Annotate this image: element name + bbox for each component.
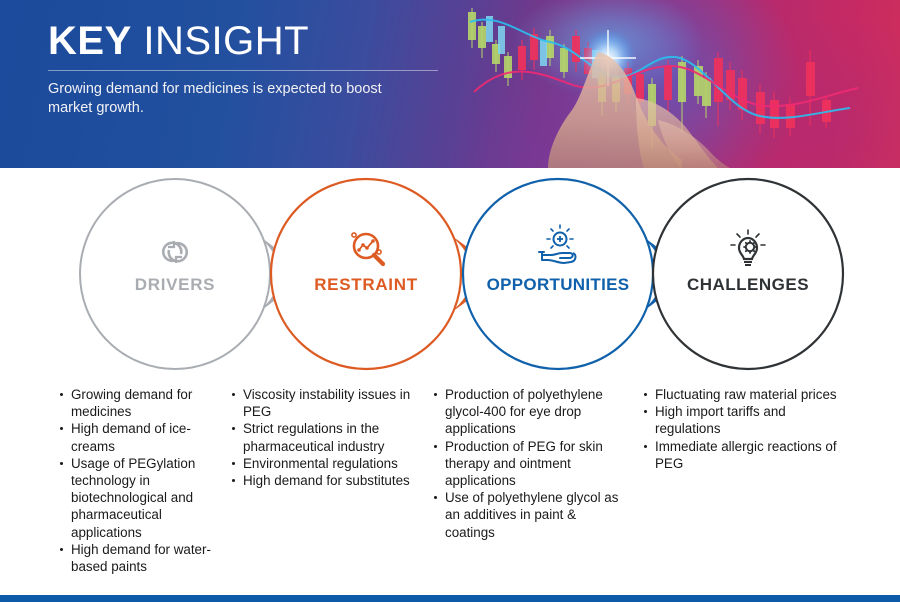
drivers-bullet-list: Growing demand for medicines High demand… bbox=[58, 386, 212, 575]
list-item: High demand for water-based paints bbox=[58, 541, 212, 575]
restraint-label: RESTRAINT bbox=[314, 275, 418, 294]
opportunities-label: OPPORTUNITIES bbox=[487, 275, 630, 294]
list-item: Production of PEG for skin therapy and o… bbox=[432, 438, 624, 490]
stage-circle-restraint[interactable]: RESTRAINT bbox=[271, 179, 461, 369]
list-item: Production of polyethylene glycol-400 fo… bbox=[432, 386, 624, 438]
list-item: Growing demand for medicines bbox=[58, 386, 212, 420]
list-item: High demand for substitutes bbox=[230, 472, 416, 489]
opportunities-bullet-list: Production of polyethylene glycol-400 fo… bbox=[432, 386, 624, 541]
list-item: Viscosity instability issues in PEG bbox=[230, 386, 416, 420]
bullet-columns: Growing demand for medicines High demand… bbox=[0, 386, 900, 586]
stage-circle-opportunities[interactable]: OPPORTUNITIES bbox=[463, 179, 653, 369]
list-item: Usage of PEGylation technology in biotec… bbox=[58, 455, 212, 541]
column-challenges: Fluctuating raw material prices High imp… bbox=[630, 386, 860, 586]
drivers-circle-outline bbox=[80, 179, 270, 369]
bottom-accent-bar bbox=[0, 595, 900, 602]
list-item: High demand of ice-creams bbox=[58, 420, 212, 454]
list-item: Immediate allergic reactions of PEG bbox=[642, 438, 854, 472]
challenges-label: CHALLENGES bbox=[687, 275, 809, 294]
title-divider bbox=[48, 70, 438, 71]
list-item: High import tariffs and regulations bbox=[642, 403, 854, 437]
restraint-bullet-list: Viscosity instability issues in PEG Stri… bbox=[230, 386, 416, 489]
stage-circle-challenges[interactable]: CHALLENGES bbox=[653, 179, 843, 369]
page-title: KEY INSIGHT bbox=[48, 18, 448, 64]
candlestick-chart-artwork bbox=[430, 0, 900, 168]
challenges-circle-outline bbox=[653, 179, 843, 369]
infographic-page: KEY INSIGHT Growing demand for medicines… bbox=[0, 0, 900, 602]
column-opportunities: Production of polyethylene glycol-400 fo… bbox=[422, 386, 630, 586]
list-item: Fluctuating raw material prices bbox=[642, 386, 854, 403]
challenges-bullet-list: Fluctuating raw material prices High imp… bbox=[642, 386, 854, 472]
list-item: Strict regulations in the pharmaceutical… bbox=[230, 420, 416, 454]
list-item: Environmental regulations bbox=[230, 455, 416, 472]
page-title-light: INSIGHT bbox=[143, 19, 309, 63]
restraint-circle-outline bbox=[271, 179, 461, 369]
page-title-bold: KEY bbox=[48, 19, 132, 63]
stage-circles-svg: DRIVERS RESTRAINT bbox=[0, 168, 900, 380]
drivers-label: DRIVERS bbox=[135, 275, 215, 294]
page-subtitle: Growing demand for medicines is expected… bbox=[48, 80, 398, 118]
opportunities-circle-outline bbox=[463, 179, 653, 369]
stage-circle-drivers[interactable]: DRIVERS bbox=[80, 179, 270, 369]
header-text-block: KEY INSIGHT Growing demand for medicines… bbox=[48, 18, 448, 118]
list-item: Use of polyethylene glycol as an additiv… bbox=[432, 489, 624, 541]
column-drivers: Growing demand for medicines High demand… bbox=[0, 386, 218, 586]
header-banner: KEY INSIGHT Growing demand for medicines… bbox=[0, 0, 900, 168]
stage-circles-row: DRIVERS RESTRAINT bbox=[0, 168, 900, 380]
column-restraint: Viscosity instability issues in PEG Stri… bbox=[218, 386, 422, 586]
